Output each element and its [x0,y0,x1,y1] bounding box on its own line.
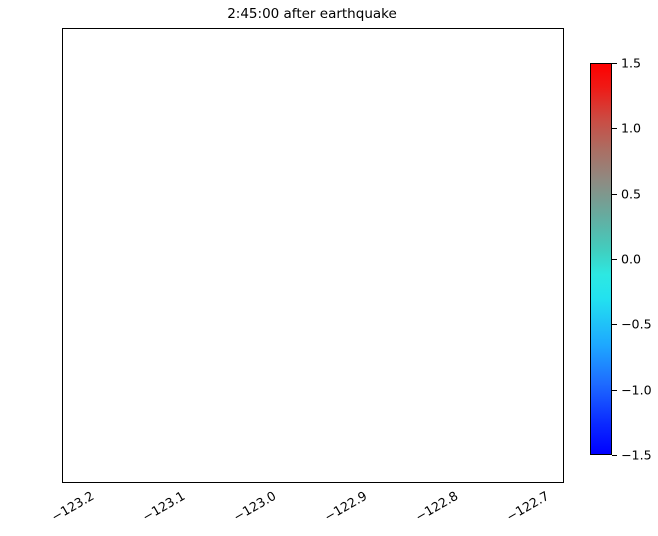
x-tick-mark [363,482,364,483]
colorbar-tick-mark [612,390,617,391]
x-tick-mark [454,482,455,483]
y-tick-mark [62,242,63,243]
heatmap-image [63,29,563,482]
figure-canvas: 2:45:00 after earthquake 48.9048.9549.00… [0,0,658,536]
colorbar-tick-mark [612,194,617,195]
colorbar-tick-mark [612,324,617,325]
x-tick-label: −123.2 [41,488,97,529]
x-tick-label: −122.7 [495,488,551,529]
y-tick-mark [62,36,63,37]
colorbar-tick-label: 0.5 [621,186,641,201]
y-tick-mark [62,105,63,106]
x-tick-label: −123.1 [132,488,188,529]
colorbar-tick-mark [612,128,617,129]
y-tick-mark [62,173,63,174]
colorbar-tick-label: 1.0 [621,121,641,136]
x-tick-label: −122.8 [404,488,460,529]
x-tick-mark [272,482,273,483]
x-tick-mark [545,482,546,483]
chart-title: 2:45:00 after earthquake [62,5,562,23]
colorbar-tick-label: 1.5 [621,56,641,71]
y-tick-mark [62,310,63,311]
x-tick-label: −123.0 [223,488,279,529]
colorbar-tick-label: −0.5 [621,317,652,332]
colorbar-tick-mark [612,63,617,64]
colorbar-tick-label: −1.0 [621,382,652,397]
y-tick-mark [62,448,63,449]
colorbar-gradient [590,63,612,455]
map-axes[interactable] [62,28,564,483]
x-tick-mark [181,482,182,483]
colorbar-tick-label: −1.5 [621,448,652,463]
colorbar[interactable]: 1.51.00.50.0−0.5−1.0−1.5 [590,63,612,455]
colorbar-tick-mark [612,259,617,260]
x-tick-label: −122.9 [314,488,370,529]
x-tick-mark [90,482,91,483]
y-tick-mark [62,379,63,380]
colorbar-tick-label: 0.0 [621,252,641,267]
colorbar-tick-mark [612,455,617,456]
